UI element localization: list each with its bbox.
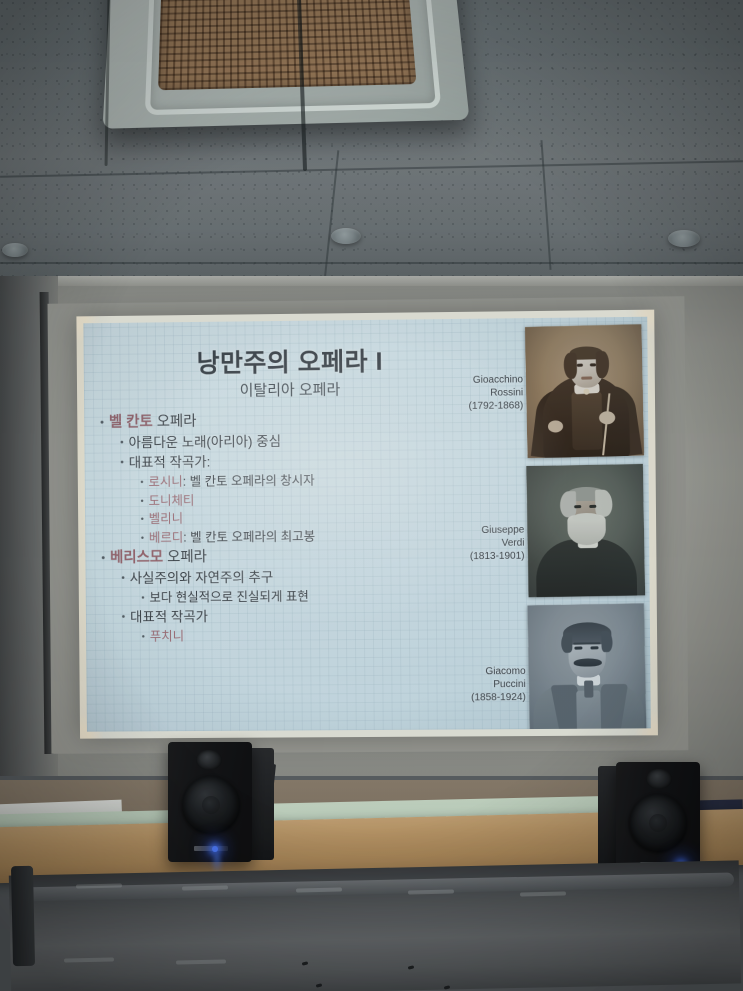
bullet-text: 아름다운 노래(아리아) 중심 bbox=[129, 434, 282, 451]
rossini-portrait bbox=[525, 324, 644, 458]
slide-bullet-level2: •아름다운 노래(아리아) 중심 bbox=[98, 432, 497, 452]
bullet-text: 보다 현실적으로 진실되게 표현 bbox=[149, 589, 308, 605]
bullet-text-highlight: 벨리니 bbox=[149, 512, 183, 526]
bullet-marker-icon: • bbox=[120, 455, 124, 470]
bullet-text: 대표적 작곡가: bbox=[129, 455, 211, 472]
composer-name-line1: Giacomo bbox=[395, 665, 525, 679]
composer-entry-rossini: Gioacchino Rossini (1792-1868) bbox=[488, 325, 642, 464]
bullet-text-highlight: 로시니 bbox=[148, 475, 182, 489]
bullet-marker-icon: • bbox=[141, 591, 144, 605]
composer-entry-verdi: Giuseppe Verdi (1813-1901) bbox=[490, 464, 644, 603]
bullet-marker-icon: • bbox=[122, 610, 126, 625]
bullet-text: 푸치니 bbox=[150, 629, 184, 644]
screen-surface: 낭만주의 오페라 I 이탈리아 오페라 •벨 칸토 오페라•아름다운 노래(아리… bbox=[76, 310, 658, 739]
air-conditioner-bezel bbox=[145, 0, 442, 115]
composer-years: (1813-1901) bbox=[394, 550, 524, 564]
bullet-text: 벨 칸토 오페라 bbox=[109, 414, 197, 432]
bullet-marker-icon: • bbox=[121, 571, 125, 586]
bullet-marker-icon: • bbox=[100, 415, 104, 431]
bullet-marker-icon: • bbox=[101, 550, 105, 566]
speaker-cabinet bbox=[168, 742, 252, 862]
lecture-room-photo: 낭만주의 오페라 I 이탈리아 오페라 •벨 칸토 오페라•아름다운 노래(아리… bbox=[0, 0, 743, 991]
bullet-text-plain: 아름다운 노래(아리아) 중심 bbox=[129, 434, 282, 450]
bullet-text-highlight: 베리스모 bbox=[110, 550, 167, 566]
composer-name-line2: Verdi bbox=[394, 537, 524, 551]
verdi-portrait bbox=[526, 464, 645, 597]
tweeter-driver bbox=[196, 750, 222, 770]
bullet-text-plain: : 벨 칸토 오페라의 최고봉 bbox=[183, 530, 315, 545]
bullet-text: 로시니: 벨 칸토 오페라의 창시자 bbox=[148, 473, 314, 489]
composer-years: (1858-1924) bbox=[395, 691, 525, 705]
bullet-text-highlight: 푸치니 bbox=[150, 629, 184, 643]
composer-name-line2: Rossini bbox=[393, 387, 523, 402]
ceiling-tile-seam bbox=[0, 262, 743, 264]
presentation-slide: 낭만주의 오페라 I 이탈리아 오페라 •벨 칸토 오페라•아름다운 노래(아리… bbox=[83, 317, 650, 732]
composer-name-line1: Gioacchino bbox=[393, 373, 523, 388]
bullet-marker-icon: • bbox=[140, 475, 143, 489]
puccini-portrait bbox=[527, 603, 646, 731]
woofer-driver bbox=[182, 776, 240, 834]
ceiling bbox=[0, 0, 743, 286]
bullet-text: 사실주의와 자연주의 추구 bbox=[130, 570, 274, 587]
bullet-text: 베르디: 벨 칸토 오페라의 최고봉 bbox=[149, 530, 315, 546]
slide-bullet-level2: •대표적 작곡가: bbox=[98, 452, 497, 472]
bullet-text-plain: 사실주의와 자연주의 추구 bbox=[130, 570, 274, 586]
slide-bullet-level3: •도니체티 bbox=[99, 490, 498, 508]
bullet-marker-icon: • bbox=[120, 436, 124, 451]
bullet-marker-icon: • bbox=[142, 629, 145, 643]
bullet-text-plain: 보다 현실적으로 진실되게 표현 bbox=[149, 589, 308, 604]
bullet-text-plain: 대표적 작곡가 bbox=[130, 609, 208, 625]
bullet-text-highlight: 도니체티 bbox=[149, 493, 195, 507]
slide-bullet-level3: •보다 현실적으로 진실되게 표현 bbox=[100, 588, 499, 606]
speaker-power-led[interactable] bbox=[212, 846, 218, 852]
recessed-downlight bbox=[668, 230, 700, 247]
bullet-text-plain: 오페라 bbox=[167, 549, 207, 565]
desk-leg bbox=[11, 866, 35, 966]
bullet-text-plain: 대표적 작곡가: bbox=[129, 455, 211, 471]
wall-ceiling-trim bbox=[0, 276, 743, 286]
woofer-driver bbox=[629, 794, 687, 852]
recessed-downlight bbox=[2, 243, 28, 257]
ceiling-air-conditioner bbox=[102, 0, 469, 129]
bullet-text: 베리스모 오페라 bbox=[110, 549, 207, 567]
composer-years: (1792-1868) bbox=[393, 400, 523, 415]
projection-screen: 낭만주의 오페라 I 이탈리아 오페라 •벨 칸토 오페라•아름다운 노래(아리… bbox=[48, 296, 689, 754]
composer-name-line1: Giuseppe bbox=[394, 524, 524, 538]
bullet-marker-icon: • bbox=[140, 494, 143, 508]
slide-bullet-level3: •푸치니 bbox=[100, 627, 499, 645]
bullet-text-highlight: 벨 칸토 bbox=[109, 414, 157, 430]
bullet-text: 대표적 작곡가 bbox=[130, 609, 208, 625]
composer-caption: Giuseppe Verdi (1813-1901) bbox=[394, 524, 525, 565]
recessed-downlight bbox=[331, 228, 361, 244]
bullet-text-plain: 오페라 bbox=[157, 414, 197, 430]
slide-bullet-level2: •사실주의와 자연주의 추구 bbox=[99, 568, 498, 587]
bullet-text-plain: : 벨 칸토 오페라의 창시자 bbox=[183, 473, 315, 488]
composer-name-line2: Puccini bbox=[395, 678, 525, 692]
composer-entry-puccini: Giacomo Puccini (1858-1924) bbox=[491, 604, 645, 732]
speaker-left bbox=[168, 742, 288, 867]
speaker-brand-logo bbox=[194, 846, 228, 851]
composer-caption: Giacomo Puccini (1858-1924) bbox=[395, 665, 526, 705]
bullet-marker-icon: • bbox=[141, 531, 144, 545]
tweeter-driver bbox=[646, 769, 672, 789]
bullet-text: 벨리니 bbox=[149, 512, 183, 527]
composer-caption: Gioacchino Rossini (1792-1868) bbox=[393, 373, 524, 414]
bullet-text-highlight: 베르디 bbox=[149, 531, 183, 545]
slide-bullet-level3: •로시니: 벨 칸토 오페라의 창시자 bbox=[99, 472, 498, 490]
composer-column: Gioacchino Rossini (1792-1868) bbox=[488, 325, 644, 732]
slide-bullet-level2: •대표적 작곡가 bbox=[100, 607, 499, 626]
bullet-text: 도니체티 bbox=[149, 493, 195, 508]
bullet-marker-icon: • bbox=[141, 512, 144, 526]
